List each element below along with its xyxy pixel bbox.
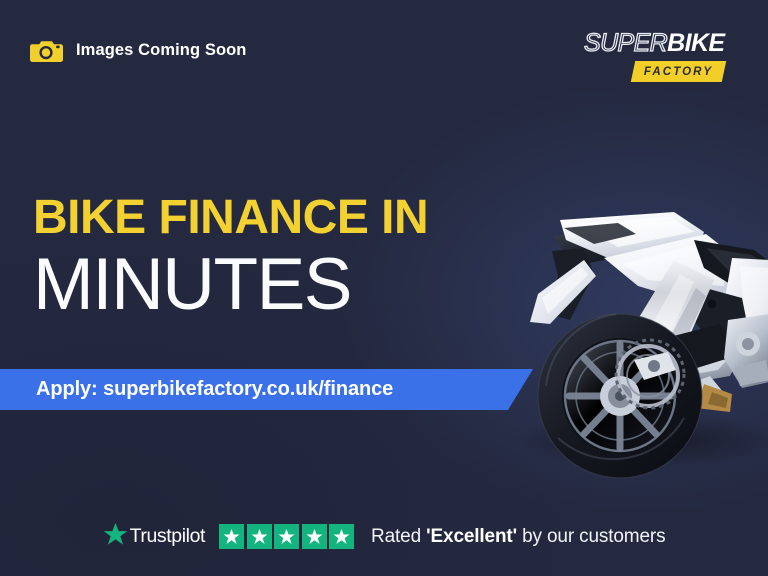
logo-word-bike: BIKE <box>667 29 724 57</box>
trustpilot-rating-bar: Trustpilot Rated 'Excellent' by our cust… <box>0 522 768 551</box>
star-icon <box>274 524 299 549</box>
apply-banner[interactable]: Apply: superbikefactory.co.uk/finance <box>0 369 533 410</box>
trustpilot-logo: Trustpilot <box>103 522 205 551</box>
logo-word-super: SUPER <box>584 29 667 57</box>
trustpilot-brand-label: Trustpilot <box>130 525 205 548</box>
rating-text: Rated 'Excellent' by our customers <box>371 526 665 548</box>
motorcycle-image <box>498 108 768 488</box>
logo-factory-badge: FACTORY <box>631 61 727 82</box>
headline: BIKE FINANCE IN MINUTES <box>33 193 428 322</box>
rating-word: 'Excellent' <box>426 526 517 547</box>
apply-banner-text: Apply: superbikefactory.co.uk/finance <box>0 378 393 401</box>
logo-wordmark: SUPERBIKE <box>584 30 724 57</box>
rating-suffix: by our customers <box>517 526 665 547</box>
trustpilot-star-icon <box>103 522 128 551</box>
star-icon <box>329 524 354 549</box>
logo-factory-label: FACTORY <box>644 66 713 78</box>
star-rating <box>219 524 354 549</box>
rating-prefix: Rated <box>371 526 426 547</box>
headline-line-1: BIKE FINANCE IN <box>33 193 428 243</box>
star-icon <box>219 524 244 549</box>
star-icon <box>302 524 327 549</box>
superbike-factory-logo: SUPERBIKE FACTORY <box>584 30 724 82</box>
camera-icon <box>30 38 63 63</box>
promo-banner: Images Coming Soon SUPERBIKE FACTORY BIK… <box>0 0 768 576</box>
star-icon <box>247 524 272 549</box>
images-coming-soon-badge: Images Coming Soon <box>30 38 246 63</box>
images-coming-soon-label: Images Coming Soon <box>76 41 246 60</box>
headline-line-2: MINUTES <box>33 248 428 322</box>
